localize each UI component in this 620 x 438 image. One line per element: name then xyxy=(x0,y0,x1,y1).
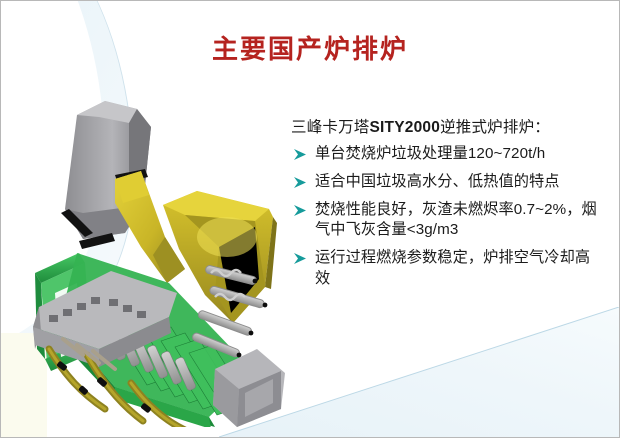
list-item: 单台焚烧炉垃圾处理量120~720t/h xyxy=(291,144,603,165)
arrow-bullet-icon xyxy=(293,148,307,161)
list-item-label: 适合中国垃圾高水分、低热值的特点 xyxy=(315,173,560,190)
lead-prefix: 三峰卡万塔 xyxy=(291,119,370,136)
slide-canvas: 主要国产炉排炉 xyxy=(0,0,620,438)
lead-line: 三峰卡万塔SITY2000逆推式炉排炉： xyxy=(291,117,603,139)
content-text-block: 三峰卡万塔SITY2000逆推式炉排炉： 单台焚烧炉垃圾处理量120~720t/… xyxy=(291,117,603,297)
page-title: 主要国产炉排炉 xyxy=(1,29,619,66)
arrow-bullet-icon xyxy=(293,252,307,265)
arrow-bullet-icon xyxy=(293,176,307,189)
lead-bold-model: SITY2000 xyxy=(370,119,441,136)
list-item: 运行过程燃烧参数稳定，炉排空气冷却高效 xyxy=(291,248,603,289)
arrow-bullet-icon xyxy=(293,204,307,217)
lead-suffix: 逆推式炉排炉： xyxy=(440,119,550,136)
furnace-illustration xyxy=(19,87,291,427)
list-item-label: 运行过程燃烧参数稳定，炉排空气冷却高效 xyxy=(315,249,590,287)
list-item: 焚烧性能良好，灰渣未燃烬率0.7~2%，烟气中飞灰含量<3g/m3 xyxy=(291,200,603,241)
list-item: 适合中国垃圾高水分、低热值的特点 xyxy=(291,172,603,193)
bullet-list: 单台焚烧炉垃圾处理量120~720t/h 适合中国垃圾高水分、低热值的特点 焚烧… xyxy=(291,144,603,289)
list-item-label: 焚烧性能良好，灰渣未燃烬率0.7~2%，烟气中飞灰含量<3g/m3 xyxy=(315,201,597,239)
list-item-label: 单台焚烧炉垃圾处理量120~720t/h xyxy=(315,145,545,162)
